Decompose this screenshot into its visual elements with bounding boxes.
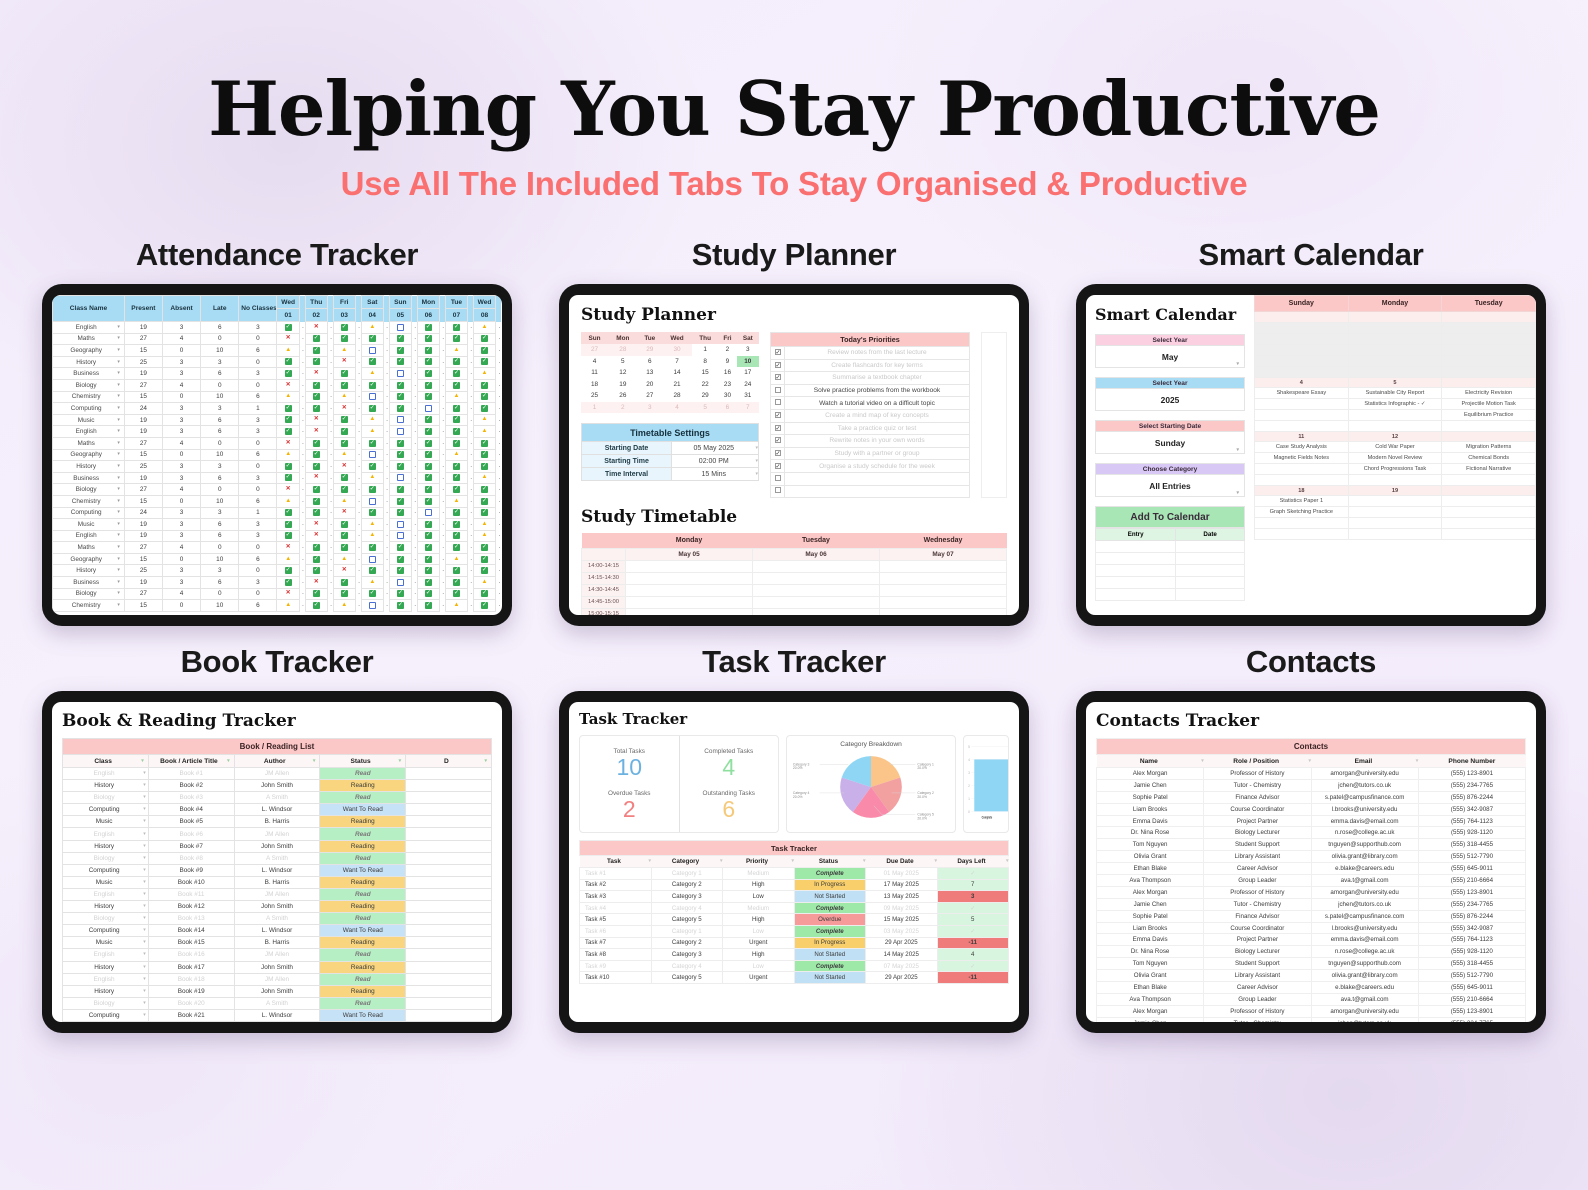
- table-row[interactable]: Business▾19363✓·✕·✓·▲··✓·✓·▲·: [53, 472, 502, 484]
- calendar-event-cell[interactable]: Statistics Paper 1: [1255, 496, 1349, 507]
- attendance-mark-cell[interactable]: ✓: [417, 379, 439, 391]
- table-row[interactable]: English▾19363✓·✕·✓·▲··✓·✓·▲·: [53, 530, 502, 542]
- attendance-mark-cell[interactable]: ▲: [361, 426, 383, 438]
- attendance-mark-cell[interactable]: ✓: [473, 449, 495, 461]
- attendance-mark-cell[interactable]: ✓: [277, 530, 299, 542]
- book-status[interactable]: Want To Read: [320, 804, 406, 816]
- table-row[interactable]: Ava Thompson Group Leader ava.t@gmail.co…: [1097, 993, 1526, 1005]
- attendance-mark-cell[interactable]: ✓: [445, 507, 467, 519]
- attendance-mark-cell[interactable]: ✓: [277, 472, 299, 484]
- attendance-mark-cell[interactable]: ▲: [277, 391, 299, 403]
- attendance-mark-cell[interactable]: ✓: [361, 333, 383, 345]
- calendar-date-number[interactable]: 11: [1255, 432, 1349, 442]
- attendance-mark-cell[interactable]: ✓: [333, 588, 355, 600]
- attendance-mark-cell[interactable]: ✓: [417, 368, 439, 380]
- chevron-down-icon[interactable]: ▾: [1236, 353, 1239, 375]
- checkbox-icon[interactable]: [775, 425, 781, 431]
- attendance-mark-cell[interactable]: ✓: [445, 368, 467, 380]
- priority-text[interactable]: Organise a study schedule for the week: [785, 460, 970, 473]
- calendar-event-cell[interactable]: [1255, 464, 1349, 475]
- contact-email[interactable]: l.brooks@university.edu: [1311, 922, 1418, 934]
- table-row[interactable]: Maths▾27400✕·✓·✓·✓·✓·✓·✓·✓·: [53, 437, 502, 449]
- timetable-cell[interactable]: [880, 572, 1007, 584]
- class-name-cell[interactable]: Geography▾: [53, 345, 125, 357]
- table-row[interactable]: English▾ Book #16 JM Allen Read: [63, 949, 492, 961]
- calendar-event-cell[interactable]: Graph Sketching Practice: [1255, 507, 1349, 518]
- table-row[interactable]: Music▾19363✓·✕·✓·▲··✓·✓·▲·: [53, 414, 502, 426]
- calendar-event-cell[interactable]: Fictional Narrative: [1442, 464, 1536, 475]
- table-row[interactable]: Biology▾ Book #8 A Smith Read: [63, 852, 492, 864]
- calendar-event-cell[interactable]: [1255, 475, 1349, 486]
- task-status[interactable]: Complete: [794, 868, 866, 880]
- attendance-mark-cell[interactable]: [389, 322, 411, 334]
- add-entry-row[interactable]: [1096, 577, 1245, 589]
- priority-checkbox-cell[interactable]: [771, 384, 785, 397]
- attendance-mark-cell[interactable]: [361, 449, 383, 461]
- book-class[interactable]: Computing▾: [63, 804, 149, 816]
- task-status[interactable]: Complete: [794, 960, 866, 972]
- attendance-mark-cell[interactable]: ✓: [473, 345, 495, 357]
- book-status[interactable]: Reading: [320, 961, 406, 973]
- calendar-date-number[interactable]: 19: [1348, 486, 1442, 496]
- calendar-day[interactable]: 20: [638, 379, 662, 391]
- attendance-mark-cell[interactable]: ✕: [305, 322, 327, 334]
- attendance-mark-cell[interactable]: ✓: [277, 403, 299, 415]
- table-row[interactable]: Task #1 Category 1 Medium Complete 01 Ma…: [580, 868, 1009, 880]
- contact-email[interactable]: tnguyen@supporthub.com: [1311, 958, 1418, 970]
- task-status[interactable]: Complete: [794, 902, 866, 914]
- priority-text[interactable]: Create a mind map of key concepts: [785, 409, 970, 422]
- book-class[interactable]: English▾: [63, 768, 149, 780]
- calendar-day[interactable]: 28: [608, 344, 637, 356]
- table-row[interactable]: Computing▾ Book #9 L. Windsor Want To Re…: [63, 864, 492, 876]
- task-status[interactable]: Overdue: [794, 914, 866, 926]
- table-row[interactable]: History▾ Book #12 John Smith Reading: [63, 901, 492, 913]
- attendance-mark-cell[interactable]: ✓: [473, 600, 495, 612]
- table-row[interactable]: Task #7 Category 2 Urgent In Progress 29…: [580, 937, 1009, 949]
- attendance-mark-cell[interactable]: [389, 519, 411, 531]
- calendar-event-cell[interactable]: [1348, 356, 1442, 367]
- table-row[interactable]: Liam Brooks Course Coordinator l.brooks@…: [1097, 922, 1526, 934]
- chevron-down-icon[interactable]: ▾: [1236, 439, 1239, 461]
- attendance-col-0[interactable]: Class Name: [53, 296, 125, 322]
- attendance-mark-cell[interactable]: ▲: [361, 530, 383, 542]
- attendance-mark-cell[interactable]: ▲: [361, 414, 383, 426]
- task-category[interactable]: Category 2: [651, 937, 723, 949]
- attendance-mark-cell[interactable]: ▲: [473, 426, 495, 438]
- calendar-event-cell[interactable]: [1255, 421, 1349, 432]
- checkbox-icon[interactable]: [775, 349, 781, 355]
- calendar-day[interactable]: 6: [718, 402, 736, 414]
- book-class[interactable]: History▾: [63, 840, 149, 852]
- attendance-mark-cell[interactable]: ✓: [473, 565, 495, 577]
- calendar-event-cell[interactable]: [1255, 399, 1349, 410]
- book-status[interactable]: Read: [320, 913, 406, 925]
- calendar-event-cell[interactable]: [1255, 334, 1349, 345]
- book-class[interactable]: Computing▾: [63, 864, 149, 876]
- task-category[interactable]: Category 4: [651, 902, 723, 914]
- timetable-row[interactable]: 14:15-14:30: [582, 572, 1007, 584]
- attendance-mark-cell[interactable]: ▲: [361, 368, 383, 380]
- calendar-day[interactable]: 26: [608, 390, 637, 402]
- calendar-date-number[interactable]: [1442, 378, 1536, 388]
- calendar-event-cell[interactable]: [1348, 496, 1442, 507]
- attendance-mark-cell[interactable]: ✓: [305, 403, 327, 415]
- chevron-down-icon[interactable]: ▾: [1236, 482, 1239, 504]
- calendar-event-cell[interactable]: [1348, 529, 1442, 540]
- book-status[interactable]: Reading: [320, 780, 406, 792]
- priority-row[interactable]: Solve practice problems from the workboo…: [771, 384, 970, 397]
- table-row[interactable]: Task #4 Category 4 Medium Complete 09 Ma…: [580, 902, 1009, 914]
- book-col-3[interactable]: Status▾: [320, 755, 406, 768]
- task-col-0[interactable]: Task▾: [580, 856, 652, 868]
- attendance-mark-cell[interactable]: ✕: [305, 577, 327, 589]
- attendance-mark-cell[interactable]: [361, 553, 383, 565]
- attendance-mark-cell[interactable]: ▲: [473, 368, 495, 380]
- attendance-mark-cell[interactable]: [389, 577, 411, 589]
- attendance-mark-cell[interactable]: ✓: [277, 368, 299, 380]
- task-col-5[interactable]: Days Left▾: [937, 856, 1009, 868]
- calendar-day[interactable]: 10: [737, 356, 759, 368]
- task-priority[interactable]: High: [723, 914, 795, 926]
- contact-email[interactable]: l.brooks@university.edu: [1311, 803, 1418, 815]
- calendar-day[interactable]: 23: [718, 379, 736, 391]
- attendance-mark-cell[interactable]: ▲: [445, 449, 467, 461]
- table-row[interactable]: Jamie Chen Tutor - Chemistry jchen@tutor…: [1097, 898, 1526, 910]
- attendance-mark-cell[interactable]: ✓: [445, 565, 467, 577]
- attendance-mark-cell[interactable]: ▲: [277, 345, 299, 357]
- attendance-mark-cell[interactable]: ✕: [333, 565, 355, 577]
- attendance-mark-cell[interactable]: ✓: [305, 542, 327, 554]
- book-status[interactable]: Reading: [320, 985, 406, 997]
- attendance-mark-cell[interactable]: ✕: [277, 588, 299, 600]
- table-row[interactable]: Alex Morgan Professor of History amorgan…: [1097, 886, 1526, 898]
- contact-email[interactable]: s.patel@campusfinance.com: [1311, 791, 1418, 803]
- add-to-calendar-header[interactable]: Add To Calendar: [1095, 506, 1245, 528]
- attendance-mark-cell[interactable]: ▲: [333, 345, 355, 357]
- class-name-cell[interactable]: Geography▾: [53, 449, 125, 461]
- table-row[interactable]: Music▾ Book #10 B. Harris Reading: [63, 876, 492, 888]
- book-class[interactable]: History▾: [63, 961, 149, 973]
- class-name-cell[interactable]: Business▾: [53, 368, 125, 380]
- attendance-mark-cell[interactable]: ✓: [445, 542, 467, 554]
- calendar-event-cell[interactable]: [1255, 410, 1349, 421]
- attendance-mark-cell[interactable]: ✓: [417, 542, 439, 554]
- timetable-cell[interactable]: [626, 572, 753, 584]
- class-name-cell[interactable]: Computing▾: [53, 403, 125, 415]
- calendar-event-cell[interactable]: [1255, 518, 1349, 529]
- task-category[interactable]: Category 1: [651, 868, 723, 880]
- attendance-mark-cell[interactable]: ✓: [389, 345, 411, 357]
- task-priority[interactable]: Low: [723, 960, 795, 972]
- book-col-2[interactable]: Author▾: [234, 755, 320, 768]
- calendar-day[interactable]: 6: [638, 356, 662, 368]
- calendar-event-cell[interactable]: [1255, 356, 1349, 367]
- calendar-event-cell[interactable]: [1442, 334, 1536, 345]
- table-row[interactable]: English▾ Book #18 JM Allen Read: [63, 973, 492, 985]
- attendance-mark-cell[interactable]: ✓: [389, 461, 411, 473]
- table-row[interactable]: Computing▾24331✓·✓·✕·✓·✓··✓·✓·: [53, 403, 502, 415]
- calendar-event-cell[interactable]: [1255, 323, 1349, 334]
- table-row[interactable]: Sophie Patel Finance Advisor s.patel@cam…: [1097, 791, 1526, 803]
- attendance-mark-cell[interactable]: ✓: [389, 484, 411, 496]
- calendar-event-cell[interactable]: Chemical Bonds: [1442, 453, 1536, 464]
- checkbox-icon[interactable]: [775, 362, 781, 368]
- timetable-cell[interactable]: [753, 572, 880, 584]
- calendar-day[interactable]: 4: [581, 356, 608, 368]
- attendance-mark-cell[interactable]: ✓: [445, 519, 467, 531]
- table-row[interactable]: History▾ Book #2 John Smith Reading: [63, 780, 492, 792]
- attendance-mark-cell[interactable]: ▲: [361, 472, 383, 484]
- class-name-cell[interactable]: Computing▾: [53, 507, 125, 519]
- task-col-4[interactable]: Due Date▾: [866, 856, 938, 868]
- table-row[interactable]: Biology▾27400✕·✓·✓·✓·✓·✓·✓·✓·: [53, 379, 502, 391]
- calendar-event-cell[interactable]: Modern Novel Review: [1348, 453, 1442, 464]
- table-row[interactable]: Olivia Grant Library Assistant olivia.gr…: [1097, 970, 1526, 982]
- calendar-event-cell[interactable]: [1255, 367, 1349, 378]
- attendance-mark-cell[interactable]: ✓: [333, 542, 355, 554]
- timetable-cell[interactable]: [880, 584, 1007, 596]
- attendance-mark-cell[interactable]: ✓: [445, 356, 467, 368]
- setting-row[interactable]: Time Interval15 Mins▾: [582, 468, 759, 481]
- calendar-day[interactable]: 1: [581, 402, 608, 414]
- book-status[interactable]: Reading: [320, 876, 406, 888]
- attendance-mark-cell[interactable]: ✓: [361, 379, 383, 391]
- attendance-mark-cell[interactable]: ✓: [361, 507, 383, 519]
- attendance-mark-cell[interactable]: ✓: [417, 495, 439, 507]
- priority-checkbox-cell[interactable]: [771, 409, 785, 422]
- table-row[interactable]: Chemistry▾150106▲·✓·▲··✓·✓·▲·✓·: [53, 391, 502, 403]
- screen-book-tracker[interactable]: Book & Reading Tracker Book / Reading Li…: [52, 702, 502, 1022]
- contact-email[interactable]: olivia.grant@library.com: [1311, 851, 1418, 863]
- priority-row[interactable]: Watch a tutorial video on a difficult to…: [771, 397, 970, 410]
- control-value[interactable]: May▾: [1095, 346, 1245, 368]
- calendar-day[interactable]: 17: [737, 367, 759, 379]
- calendar-day[interactable]: 7: [662, 356, 692, 368]
- add-entry-row[interactable]: [1096, 589, 1245, 601]
- timetable-cell[interactable]: [626, 608, 753, 615]
- timetable-cell[interactable]: [626, 584, 753, 596]
- attendance-mark-cell[interactable]: ✓: [389, 379, 411, 391]
- contact-email[interactable]: e.blake@careers.edu: [1311, 982, 1418, 994]
- book-class[interactable]: History▾: [63, 780, 149, 792]
- attendance-mark-cell[interactable]: ✓: [389, 356, 411, 368]
- table-row[interactable]: Task #3 Category 3 Low Not Started 13 Ma…: [580, 891, 1009, 903]
- attendance-mark-cell[interactable]: ✓: [333, 577, 355, 589]
- calendar-date-number[interactable]: [1442, 486, 1536, 496]
- calendar-day[interactable]: 28: [662, 390, 692, 402]
- calendar-event-cell[interactable]: [1442, 507, 1536, 518]
- attendance-mark-cell[interactable]: ✓: [445, 379, 467, 391]
- attendance-mark-cell[interactable]: ✓: [333, 414, 355, 426]
- calendar-event-cell[interactable]: [1442, 529, 1536, 540]
- table-row[interactable]: Biology▾27400✕·✓·✓·✓·✓·✓·✓·✓·: [53, 484, 502, 496]
- attendance-mark-cell[interactable]: ✕: [305, 472, 327, 484]
- checkbox-icon[interactable]: [775, 399, 781, 405]
- priority-text[interactable]: Solve practice problems from the workboo…: [785, 384, 970, 397]
- attendance-mark-cell[interactable]: ✓: [277, 461, 299, 473]
- task-category[interactable]: Category 3: [651, 891, 723, 903]
- checkbox-icon[interactable]: [775, 463, 781, 469]
- attendance-mark-cell[interactable]: ✓: [389, 495, 411, 507]
- attendance-mark-cell[interactable]: ✓: [445, 461, 467, 473]
- attendance-mark-cell[interactable]: ✓: [361, 565, 383, 577]
- task-category[interactable]: Category 3: [651, 949, 723, 961]
- class-name-cell[interactable]: Maths▾: [53, 437, 125, 449]
- calendar-event-cell[interactable]: [1442, 323, 1536, 334]
- table-row[interactable]: Computing▾24331✓·✓·✕·✓·✓··✓·✓·: [53, 507, 502, 519]
- timetable-cell[interactable]: [753, 584, 880, 596]
- attendance-mark-cell[interactable]: ✕: [277, 333, 299, 345]
- book-class[interactable]: Computing▾: [63, 925, 149, 937]
- contact-email[interactable]: s.patel@campusfinance.com: [1311, 910, 1418, 922]
- class-name-cell[interactable]: Chemistry▾: [53, 391, 125, 403]
- task-priority[interactable]: Medium: [723, 868, 795, 880]
- contact-email[interactable]: ava.t@gmail.com: [1311, 993, 1418, 1005]
- table-row[interactable]: Alex Morgan Professor of History amorgan…: [1097, 768, 1526, 780]
- book-class[interactable]: Computing▾: [63, 1009, 149, 1021]
- priority-text[interactable]: Take a practice quiz or test: [785, 422, 970, 435]
- attendance-mark-cell[interactable]: ▲: [333, 553, 355, 565]
- table-row[interactable]: Chemistry▾150106▲·✓·▲··✓·✓·▲·✓·: [53, 600, 502, 612]
- class-name-cell[interactable]: Business▾: [53, 472, 125, 484]
- attendance-mark-cell[interactable]: ✓: [389, 565, 411, 577]
- calendar-day[interactable]: 24: [737, 379, 759, 391]
- table-row[interactable]: History▾25330✓·✓·✕·✓·✓·✓·✓·✓·: [53, 461, 502, 473]
- priority-text[interactable]: Study with a partner or group: [785, 447, 970, 460]
- table-row[interactable]: Music▾ Book #5 B. Harris Reading: [63, 816, 492, 828]
- attendance-mark-cell[interactable]: ✓: [417, 345, 439, 357]
- table-row[interactable]: Business▾19363✓·✕·✓·▲··✓·✓·▲·: [53, 368, 502, 380]
- attendance-mark-cell[interactable]: ✓: [473, 356, 495, 368]
- attendance-day-4[interactable]: Sun: [389, 296, 411, 309]
- calendar-day[interactable]: 7: [737, 402, 759, 414]
- table-row[interactable]: Ava Thompson Group Leader ava.t@gmail.co…: [1097, 875, 1526, 887]
- attendance-mark-cell[interactable]: ✓: [305, 507, 327, 519]
- attendance-mark-cell[interactable]: ✓: [305, 495, 327, 507]
- attendance-mark-cell[interactable]: ✓: [389, 403, 411, 415]
- priority-row[interactable]: Create a mind map of key concepts: [771, 409, 970, 422]
- attendance-mark-cell[interactable]: ✓: [277, 507, 299, 519]
- table-row[interactable]: Biology▾ Book #13 A Smith Read: [63, 913, 492, 925]
- table-row[interactable]: Task #5 Category 5 High Overdue 15 May 2…: [580, 914, 1009, 926]
- contact-email[interactable]: n.rose@college.ac.uk: [1311, 946, 1418, 958]
- attendance-mark-cell[interactable]: ▲: [445, 391, 467, 403]
- calendar-day[interactable]: 22: [692, 379, 718, 391]
- attendance-mark-cell[interactable]: ▲: [445, 553, 467, 565]
- attendance-mark-cell[interactable]: ✓: [417, 484, 439, 496]
- attendance-mark-cell[interactable]: ✓: [473, 495, 495, 507]
- attendance-mark-cell[interactable]: ✓: [417, 437, 439, 449]
- attendance-mark-cell[interactable]: ▲: [473, 577, 495, 589]
- priority-checkbox-cell[interactable]: [771, 447, 785, 460]
- table-row[interactable]: Olivia Grant Library Assistant olivia.gr…: [1097, 851, 1526, 863]
- table-row[interactable]: Biology▾ Book #20 A Smith Read: [63, 997, 492, 1009]
- calendar-event-cell[interactable]: [1348, 323, 1442, 334]
- book-class[interactable]: English▾: [63, 949, 149, 961]
- table-row[interactable]: Tom Nguyen Student Support tnguyen@suppo…: [1097, 958, 1526, 970]
- timetable-cell[interactable]: [753, 596, 880, 608]
- calendar-day[interactable]: 5: [692, 402, 718, 414]
- contact-email[interactable]: jchen@tutors.co.uk: [1311, 1017, 1418, 1022]
- attendance-mark-cell[interactable]: ✓: [277, 565, 299, 577]
- calendar-event-cell[interactable]: [1442, 475, 1536, 486]
- priority-row[interactable]: [771, 485, 970, 498]
- table-row[interactable]: Jamie Chen Tutor - Chemistry jchen@tutor…: [1097, 1017, 1526, 1022]
- attendance-mark-cell[interactable]: ✓: [277, 577, 299, 589]
- attendance-mark-cell[interactable]: ✓: [361, 403, 383, 415]
- calendar-event-cell[interactable]: Chord Progressions Task: [1348, 464, 1442, 475]
- setting-row[interactable]: Starting Date05 May 2025▾: [582, 442, 759, 455]
- table-row[interactable]: Task #6 Category 1 Low Complete 03 May 2…: [580, 925, 1009, 937]
- task-priority[interactable]: High: [723, 879, 795, 891]
- attendance-mark-cell[interactable]: ✓: [305, 565, 327, 577]
- priority-text[interactable]: Review notes from the last lecture: [785, 347, 970, 360]
- class-name-cell[interactable]: Maths▾: [53, 333, 125, 345]
- timetable-cell[interactable]: [626, 560, 753, 572]
- attendance-mark-cell[interactable]: ✓: [417, 391, 439, 403]
- task-priority[interactable]: Low: [723, 891, 795, 903]
- attendance-mark-cell[interactable]: ✓: [445, 530, 467, 542]
- book-status[interactable]: Want To Read: [320, 864, 406, 876]
- attendance-day-2[interactable]: Fri: [333, 296, 355, 309]
- book-status[interactable]: Reading: [320, 901, 406, 913]
- attendance-mark-cell[interactable]: ▲: [333, 391, 355, 403]
- book-status[interactable]: Reading: [320, 937, 406, 949]
- timetable-row[interactable]: 14:00-14:15: [582, 560, 1007, 572]
- task-col-1[interactable]: Category▾: [651, 856, 723, 868]
- attendance-mark-cell[interactable]: ✓: [361, 356, 383, 368]
- priority-row[interactable]: Take a practice quiz or test: [771, 422, 970, 435]
- table-row[interactable]: History▾25330✓·✓·✕·✓·✓·✓·✓·✓·: [53, 565, 502, 577]
- screen-smart-calendar[interactable]: Smart Calendar Select Year May▾ Select Y…: [1086, 295, 1536, 615]
- checkbox-icon[interactable]: [775, 374, 781, 380]
- calendar-event-cell[interactable]: [1442, 345, 1536, 356]
- contact-email[interactable]: olivia.grant@library.com: [1311, 970, 1418, 982]
- attendance-mark-cell[interactable]: ✓: [445, 577, 467, 589]
- attendance-mark-cell[interactable]: ✓: [417, 333, 439, 345]
- timetable-cell[interactable]: [753, 608, 880, 615]
- calendar-event-cell[interactable]: [1348, 410, 1442, 421]
- attendance-mark-cell[interactable]: ✓: [417, 449, 439, 461]
- priority-checkbox-cell[interactable]: [771, 372, 785, 385]
- calendar-day[interactable]: 3: [737, 344, 759, 356]
- priority-text[interactable]: [785, 485, 970, 498]
- calendar-day[interactable]: 2: [608, 402, 637, 414]
- screen-study-planner[interactable]: Study Planner SunMonTueWedThuFriSat27282…: [569, 295, 1019, 615]
- calendar-day[interactable]: 30: [718, 390, 736, 402]
- timetable-row[interactable]: 14:30-14:45: [582, 584, 1007, 596]
- attendance-mark-cell[interactable]: ✓: [333, 333, 355, 345]
- table-row[interactable]: Dr. Nina Rose Biology Lecturer n.rose@co…: [1097, 827, 1526, 839]
- attendance-mark-cell[interactable]: ✕: [333, 356, 355, 368]
- book-class[interactable]: Biology▾: [63, 852, 149, 864]
- attendance-mark-cell[interactable]: ✓: [333, 484, 355, 496]
- table-row[interactable]: English▾19363✓·✕·✓·▲··✓·✓·▲·: [53, 322, 502, 334]
- task-col-3[interactable]: Status▾: [794, 856, 866, 868]
- screen-contacts[interactable]: Contacts Tracker ContactsName▾Role / Pos…: [1086, 702, 1536, 1022]
- attendance-col-3[interactable]: Late: [201, 296, 239, 322]
- attendance-mark-cell[interactable]: ✕: [305, 530, 327, 542]
- table-row[interactable]: English▾19363✓·✕·✓·▲··✓·✓·▲·: [53, 426, 502, 438]
- attendance-mark-cell[interactable]: ✓: [417, 588, 439, 600]
- calendar-day[interactable]: 3: [638, 402, 662, 414]
- table-row[interactable]: Music▾ Book #15 B. Harris Reading: [63, 937, 492, 949]
- attendance-mark-cell[interactable]: ✓: [417, 356, 439, 368]
- table-row[interactable]: Computing▾ Book #4 L. Windsor Want To Re…: [63, 804, 492, 816]
- book-class[interactable]: Biology▾: [63, 913, 149, 925]
- timetable-cell[interactable]: [626, 596, 753, 608]
